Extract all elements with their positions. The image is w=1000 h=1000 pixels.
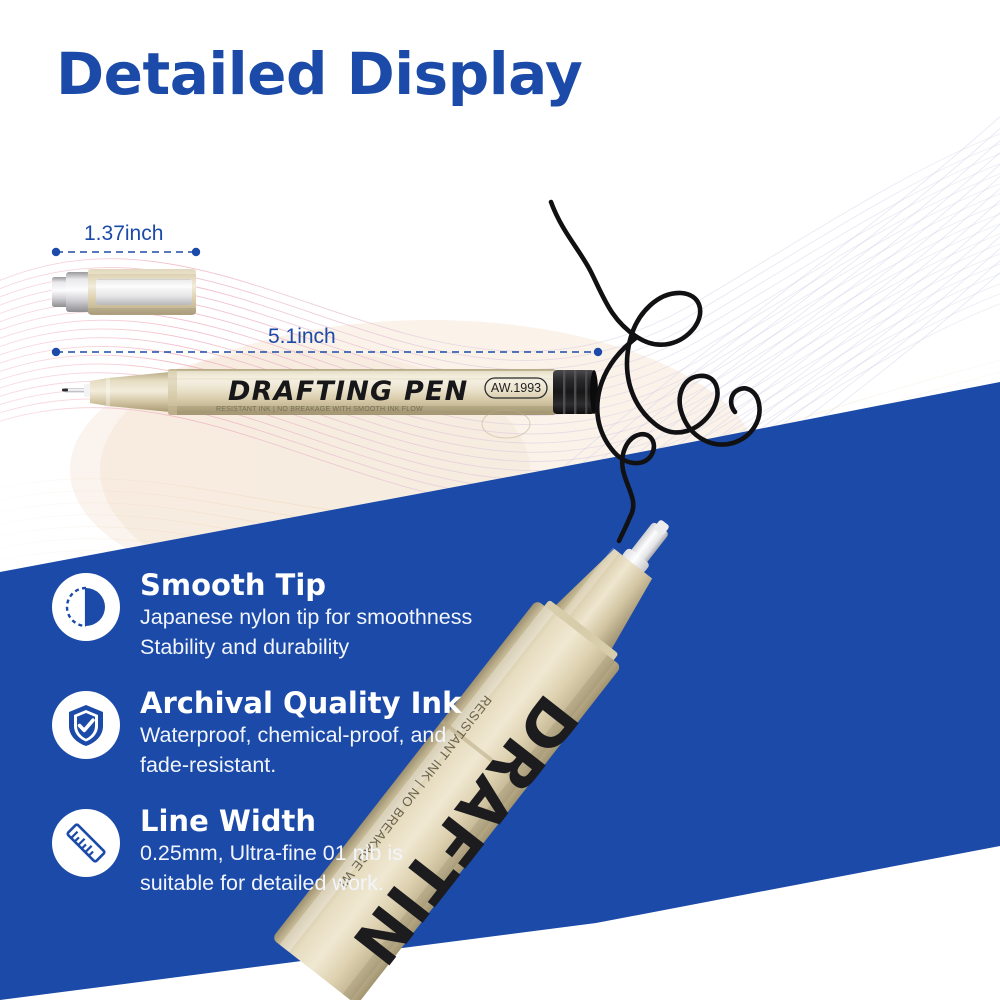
feature-item-smooth-tip: Smooth Tip Japanese nylon tip for smooth… xyxy=(52,567,612,663)
feature-description: Waterproof, chemical-proof, and fade-res… xyxy=(140,721,461,780)
feature-item-line-width: Line Width 0.25mm, Ultra-fine 01 nib is … xyxy=(52,803,612,899)
feature-title: Smooth Tip xyxy=(140,569,472,601)
feature-description: Japanese nylon tip for smoothness Stabil… xyxy=(140,603,472,662)
feature-item-archival-ink: Archival Quality Ink Waterproof, chemica… xyxy=(52,685,612,781)
feature-desc-line: 0.25mm, Ultra-fine 01 nib is xyxy=(140,839,403,869)
feature-list: Smooth Tip Japanese nylon tip for smooth… xyxy=(52,567,612,920)
ruler-icon xyxy=(52,809,120,877)
feature-text: Line Width 0.25mm, Ultra-fine 01 nib is … xyxy=(140,803,403,899)
feature-desc-line: Japanese nylon tip for smoothness xyxy=(140,603,472,633)
feature-desc-line: Stability and durability xyxy=(140,633,472,663)
feature-title: Line Width xyxy=(140,805,403,837)
feature-title: Archival Quality Ink xyxy=(140,687,461,719)
feature-desc-line: fade-resistant. xyxy=(140,751,461,781)
feature-desc-line: suitable for detailed work. xyxy=(140,869,403,899)
feature-description: 0.25mm, Ultra-fine 01 nib is suitable fo… xyxy=(140,839,403,898)
shield-check-icon xyxy=(52,691,120,759)
detailed-display-banner: Detailed Display xyxy=(0,0,1000,1000)
feature-text: Archival Quality Ink Waterproof, chemica… xyxy=(140,685,461,781)
feature-text: Smooth Tip Japanese nylon tip for smooth… xyxy=(140,567,472,663)
half-circle-tip-icon xyxy=(52,573,120,641)
feature-desc-line: Waterproof, chemical-proof, and xyxy=(140,721,461,751)
